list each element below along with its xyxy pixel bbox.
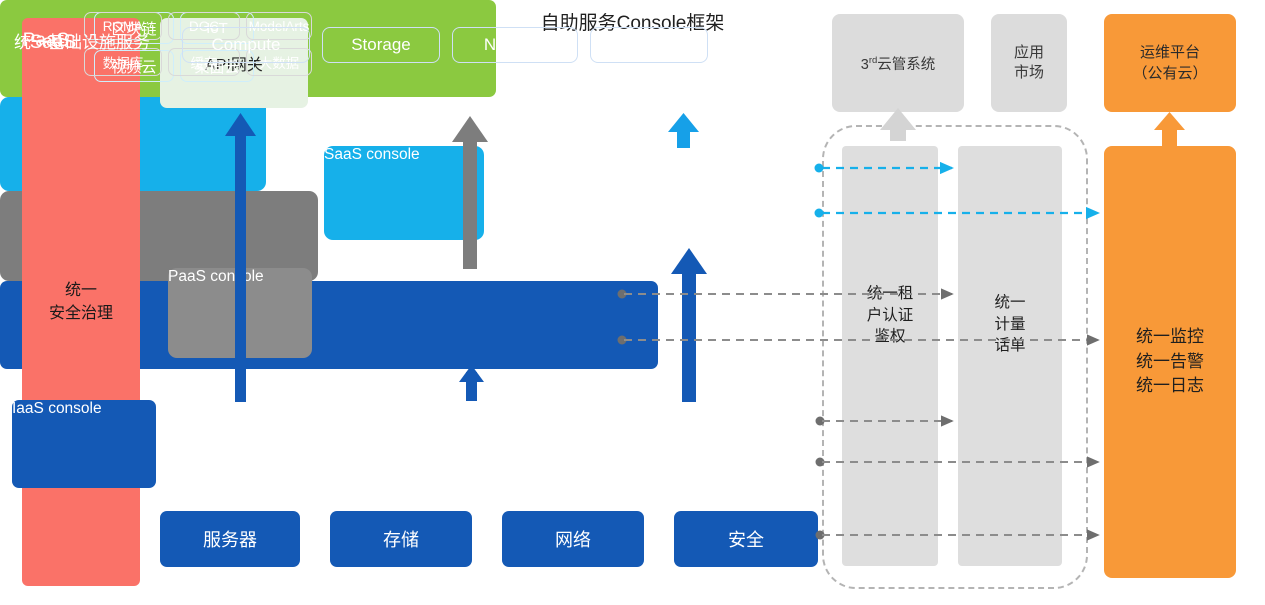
ops-top-line-1: 运维平台 bbox=[1132, 42, 1207, 63]
architecture-diagram: 统一 安全治理 API网关 自助服务Console框架 IaaS console… bbox=[0, 0, 1265, 605]
third-party-text: 云管系统 bbox=[877, 57, 935, 73]
tenant-auth-line-1: 统一租 bbox=[842, 283, 938, 305]
infra-item-security[interactable]: 安全 bbox=[674, 511, 818, 567]
infra-item-network[interactable]: 网络 bbox=[502, 511, 644, 567]
arrow-ops-panel-to-ops-top bbox=[1154, 112, 1185, 146]
saas-console-button[interactable]: SaaS console bbox=[324, 146, 484, 240]
tenant-auth-column bbox=[842, 146, 938, 566]
unified-security-governance-panel: 统一 安全治理 bbox=[22, 18, 140, 586]
paas-console-button[interactable]: PaaS console bbox=[168, 268, 312, 358]
iaas-item-network[interactable]: Network bbox=[452, 27, 578, 63]
ops-side-line-3: 统一日志 bbox=[1136, 374, 1204, 399]
tenant-auth-label: 统一租 户认证 鉴权 bbox=[842, 283, 938, 348]
metering-line-2: 计量 bbox=[958, 314, 1062, 336]
infra-network-label: 网络 bbox=[555, 526, 591, 552]
arrow-iaas-to-paas bbox=[459, 365, 484, 401]
infra-item-storage[interactable]: 存储 bbox=[330, 511, 472, 567]
arrow-iaas-to-saas bbox=[671, 248, 707, 402]
metering-line-1: 统一 bbox=[958, 292, 1062, 314]
app-market-line-2: 市场 bbox=[1014, 63, 1044, 83]
iaas-label: 统一基础设施服务 bbox=[14, 28, 150, 53]
infra-item-server[interactable]: 服务器 bbox=[160, 511, 300, 567]
tenant-auth-line-3: 鉴权 bbox=[842, 326, 938, 348]
iaas-item-compute[interactable]: Compute bbox=[182, 27, 310, 63]
metering-line-3: 话单 bbox=[958, 335, 1062, 357]
third-party-cloud-management-box: 3rd云管系统 bbox=[832, 14, 964, 112]
iaas-item-cce[interactable]: CCE bbox=[590, 27, 708, 63]
unified-monitoring-panel: 统一监控 统一告警 统一日志 bbox=[1104, 146, 1236, 578]
app-market-box: 应用 市场 bbox=[991, 14, 1067, 112]
tenant-auth-line-2: 户认证 bbox=[842, 305, 938, 327]
arrow-saas-to-saas-console bbox=[668, 113, 699, 148]
security-line-1: 统一 bbox=[49, 279, 113, 302]
app-market-line-1: 应用 bbox=[1014, 43, 1044, 63]
third-party-prefix: 3 bbox=[861, 57, 869, 73]
security-line-2: 安全治理 bbox=[49, 302, 113, 325]
infra-security-label: 安全 bbox=[728, 526, 764, 552]
third-party-label: 3rd云管系统 bbox=[861, 53, 936, 74]
infra-storage-label: 存储 bbox=[383, 526, 419, 552]
ops-platform-public-cloud-box: 运维平台 （公有云） bbox=[1104, 14, 1236, 112]
ops-top-line-2: （公有云） bbox=[1132, 63, 1207, 84]
ops-side-line-2: 统一告警 bbox=[1136, 350, 1204, 375]
iaas-console-button[interactable]: IaaS console bbox=[12, 400, 156, 488]
third-party-sup: rd bbox=[869, 55, 877, 66]
metering-billing-label: 统一 计量 话单 bbox=[958, 292, 1062, 357]
ops-side-line-1: 统一监控 bbox=[1136, 325, 1204, 350]
infra-server-label: 服务器 bbox=[203, 526, 257, 552]
iaas-item-storage[interactable]: Storage bbox=[322, 27, 440, 63]
